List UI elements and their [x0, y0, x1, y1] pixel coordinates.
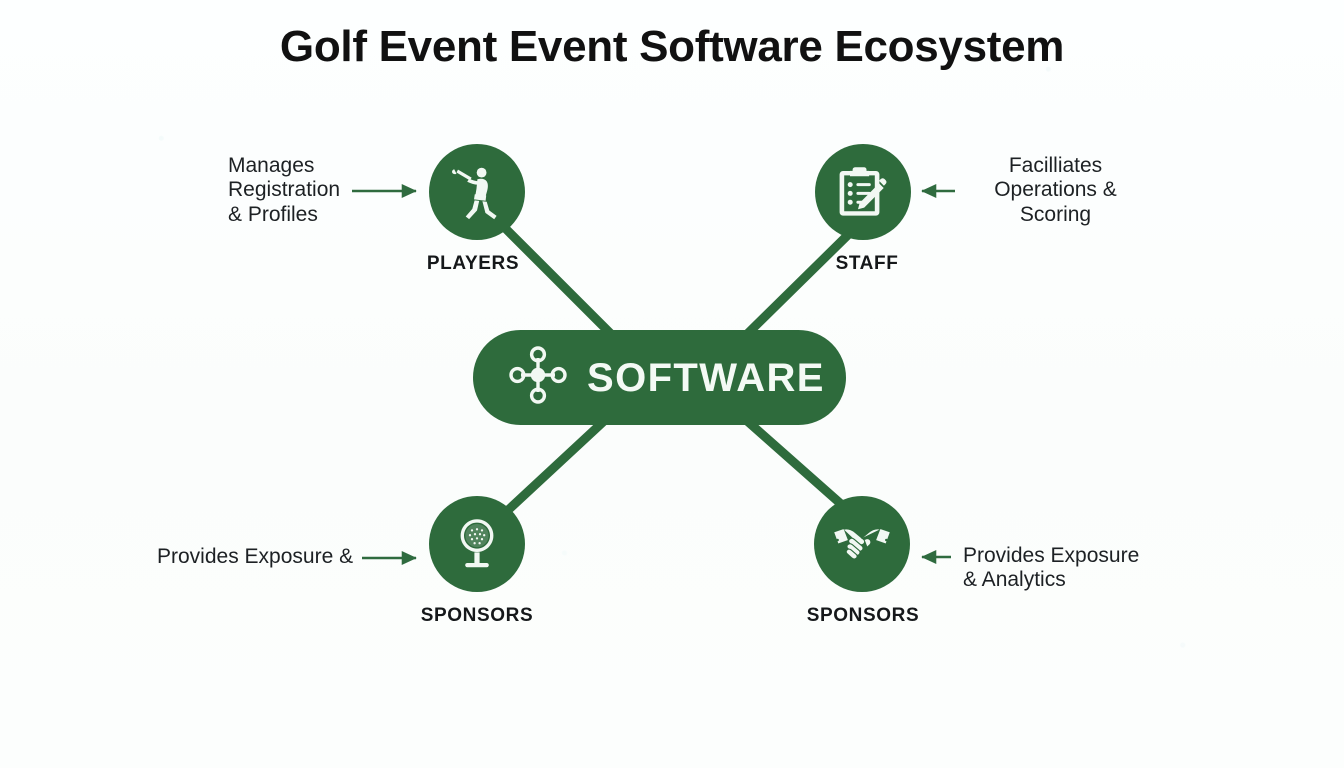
node-label-sponsors-left: SPONSORS	[347, 605, 607, 627]
note-sponsors-left: Provides Exposure &	[157, 545, 367, 569]
note-staff: Facilliates Operations & Scoring	[968, 154, 1143, 227]
node-label-staff: STAFF	[737, 253, 997, 275]
golf-ball-on-tee-icon	[451, 516, 503, 572]
handshake-icon	[831, 521, 893, 567]
node-staff[interactable]	[815, 144, 911, 240]
hub-software[interactable]: SOFTWARE	[473, 330, 846, 425]
node-sponsors-left[interactable]	[429, 496, 525, 592]
node-label-sponsors-right: SPONSORS	[733, 605, 993, 627]
node-label-players: PLAYERS	[343, 253, 603, 275]
node-sponsors-right[interactable]	[814, 496, 910, 592]
golfer-swing-icon	[450, 163, 504, 221]
note-players: Manages Registration & Profiles	[228, 154, 358, 227]
hub-label: SOFTWARE	[587, 358, 825, 398]
node-players[interactable]	[429, 144, 525, 240]
network-hub-icon	[505, 342, 571, 413]
clipboard-checklist-pencil-icon	[836, 164, 890, 220]
note-sponsors-right: Provides Exposure & Analytics	[963, 544, 1153, 593]
diagram-canvas: Golf Event Event Software Ecosystem	[0, 0, 1344, 768]
